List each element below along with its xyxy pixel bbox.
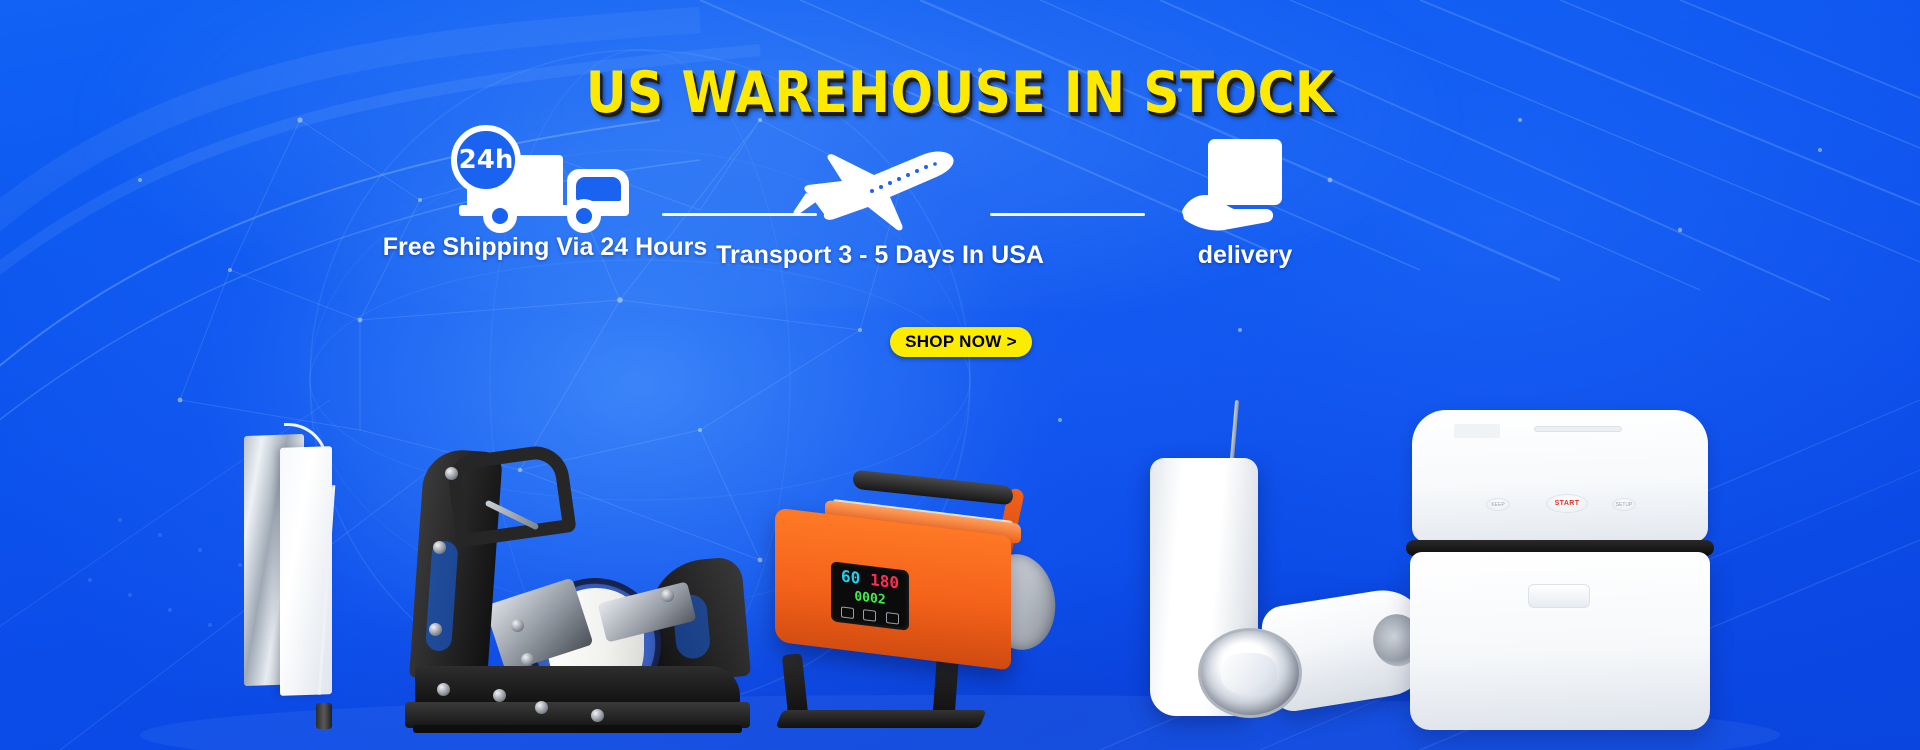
press-screw xyxy=(493,689,506,702)
feature-label-delivery: delivery xyxy=(1080,241,1410,270)
appliance-warning-sticker xyxy=(1454,424,1500,438)
plate-plug xyxy=(316,703,332,729)
press-screw xyxy=(661,589,674,602)
press-screw xyxy=(445,467,458,480)
press-handle xyxy=(445,442,576,548)
badge-24h: 24h xyxy=(451,125,521,195)
display-button-menu[interactable] xyxy=(841,606,854,619)
press-screw xyxy=(433,541,446,554)
page-title: US WAREHOUSE IN STOCK xyxy=(115,60,1805,126)
appliance-start-button[interactable]: START xyxy=(1546,494,1588,513)
hand-holding-box-glyph xyxy=(1180,133,1310,233)
promo-banner: US WAREHOUSE IN STOCK 24h Free Shipping … xyxy=(0,0,1920,750)
truck-wheel-front xyxy=(483,199,517,233)
press-screw xyxy=(535,701,548,714)
press-screw xyxy=(591,709,604,722)
press-screw xyxy=(521,653,534,666)
truck-wheel-rear xyxy=(567,199,601,233)
feature-item-transport: Transport 3 - 5 Days In USA xyxy=(710,133,1050,270)
truck-window xyxy=(576,177,621,201)
plate-white-panel xyxy=(280,446,332,696)
display-button-up[interactable] xyxy=(863,609,876,622)
delivery-truck-24h-icon: 24h xyxy=(380,125,710,225)
tumbler-clear-lid xyxy=(1198,628,1302,718)
feature-row: 24h Free Shipping Via 24 Hours xyxy=(380,125,1540,300)
product-heating-plate xyxy=(230,425,370,735)
product-white-appliance: KEEP START SETUP xyxy=(1400,410,1720,730)
product-mug-heat-press xyxy=(405,438,750,728)
press-screw xyxy=(429,623,442,636)
appliance-vent-slot xyxy=(1534,426,1622,432)
display-button-down[interactable] xyxy=(886,612,899,625)
orange-press-handle xyxy=(853,470,1013,506)
product-showcase: 60 180 0002 xyxy=(0,320,1920,750)
press-base-foot xyxy=(413,725,742,733)
product-orange-heat-press: 60 180 0002 xyxy=(775,478,1105,728)
feature-item-delivery: delivery xyxy=(1080,133,1410,270)
press-rail xyxy=(415,666,740,706)
appliance-lid: KEEP START SETUP xyxy=(1412,410,1708,542)
orange-press-foot xyxy=(775,710,986,728)
airplane-glyph xyxy=(790,133,970,233)
press-screw xyxy=(511,619,524,632)
feature-item-shipping: 24h Free Shipping Via 24 Hours xyxy=(380,125,710,262)
appliance-setup-button[interactable]: SETUP xyxy=(1612,498,1636,511)
display-temperature: 60 xyxy=(841,568,860,586)
product-tumblers xyxy=(1140,400,1430,730)
appliance-keep-button[interactable]: KEEP xyxy=(1486,498,1510,511)
display-target-temp: 180 xyxy=(870,572,899,592)
feature-label-shipping: Free Shipping Via 24 Hours xyxy=(380,233,710,262)
airplane-icon xyxy=(710,133,1050,233)
hand-holding-box-icon xyxy=(1080,133,1410,233)
orange-press-display: 60 180 0002 xyxy=(831,561,909,631)
appliance-body xyxy=(1410,552,1710,730)
appliance-front-latch[interactable] xyxy=(1528,584,1590,608)
orange-press-leg-left xyxy=(782,653,808,717)
feature-label-transport: Transport 3 - 5 Days In USA xyxy=(710,241,1050,270)
press-screw xyxy=(437,683,450,696)
